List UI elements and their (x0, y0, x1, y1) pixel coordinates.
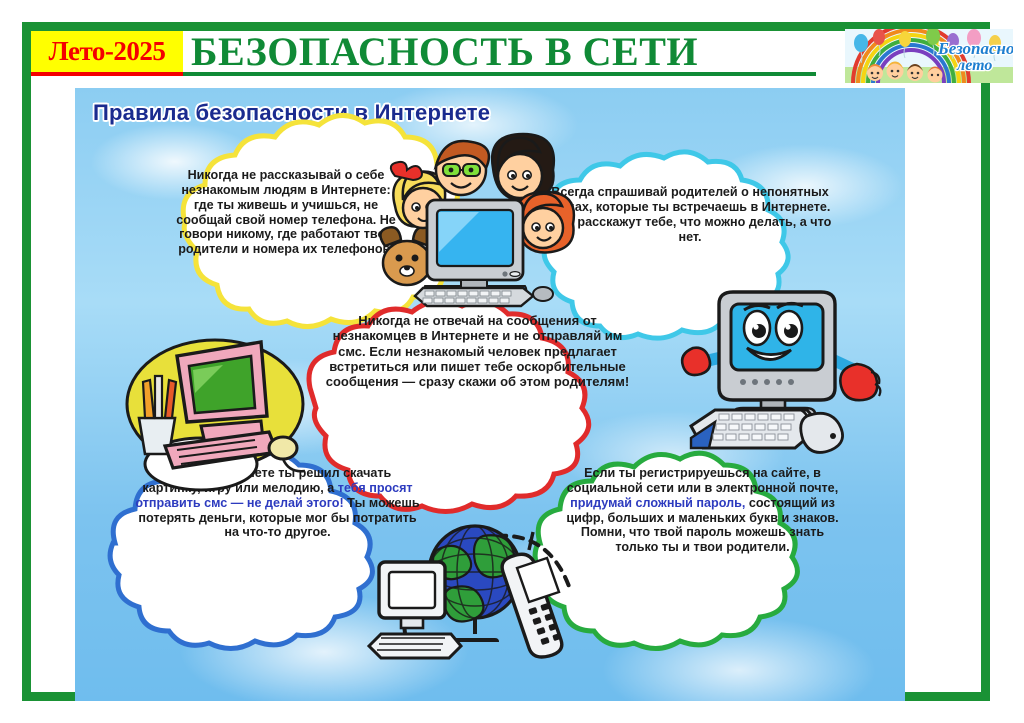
internet-safety-poster: Правила безопасности в Интернете Никогда… (75, 88, 905, 701)
pencil-cup-icon (139, 376, 176, 454)
kids-computer-illustration (365, 128, 575, 313)
mouse-icon (533, 287, 553, 301)
slide-root: Лето-2025 БЕЗОПАСНОСТЬ В СЕТИ (0, 0, 1024, 723)
dog-icon (380, 227, 433, 285)
cloud-3-text: Никогда не отвечай на сообщения от незна… (325, 313, 630, 390)
pink-computer-illustration (115, 326, 310, 486)
safe-summer-logo: Безопасное лето (845, 29, 1013, 83)
logo-text-line1: Безопасное (937, 39, 1013, 58)
summer-badge-label: Лето-2025 (49, 38, 166, 65)
badge-underline-rule (31, 72, 183, 76)
header: Лето-2025 БЕЗОПАСНОСТЬ В СЕТИ (31, 31, 981, 93)
boy-glasses-icon (436, 141, 489, 195)
globe-devices-illustration (365, 516, 575, 666)
keyboard-icon (415, 288, 533, 306)
safe-summer-logo-art: Безопасное лето (845, 29, 1013, 83)
desktop-monitor-icon (424, 200, 527, 294)
cloud-5-text-highlight: придумай сложный пароль, (570, 496, 745, 510)
cloud-2-text: Всегда спрашивай родителей о непонятных … (545, 185, 835, 244)
smiley-computer-illustration (685, 286, 885, 481)
logo-text-line2: лето (956, 57, 992, 74)
red-hair-girl-icon (516, 192, 574, 252)
dark-hair-girl-icon (492, 134, 554, 200)
summer-badge: Лето-2025 (31, 31, 183, 72)
smiley-monitor-icon (719, 292, 835, 420)
pink-mouse-icon (269, 437, 305, 471)
page-title: БЕЗОПАСНОСТЬ В СЕТИ (191, 27, 811, 75)
title-underline-rule (183, 72, 816, 76)
